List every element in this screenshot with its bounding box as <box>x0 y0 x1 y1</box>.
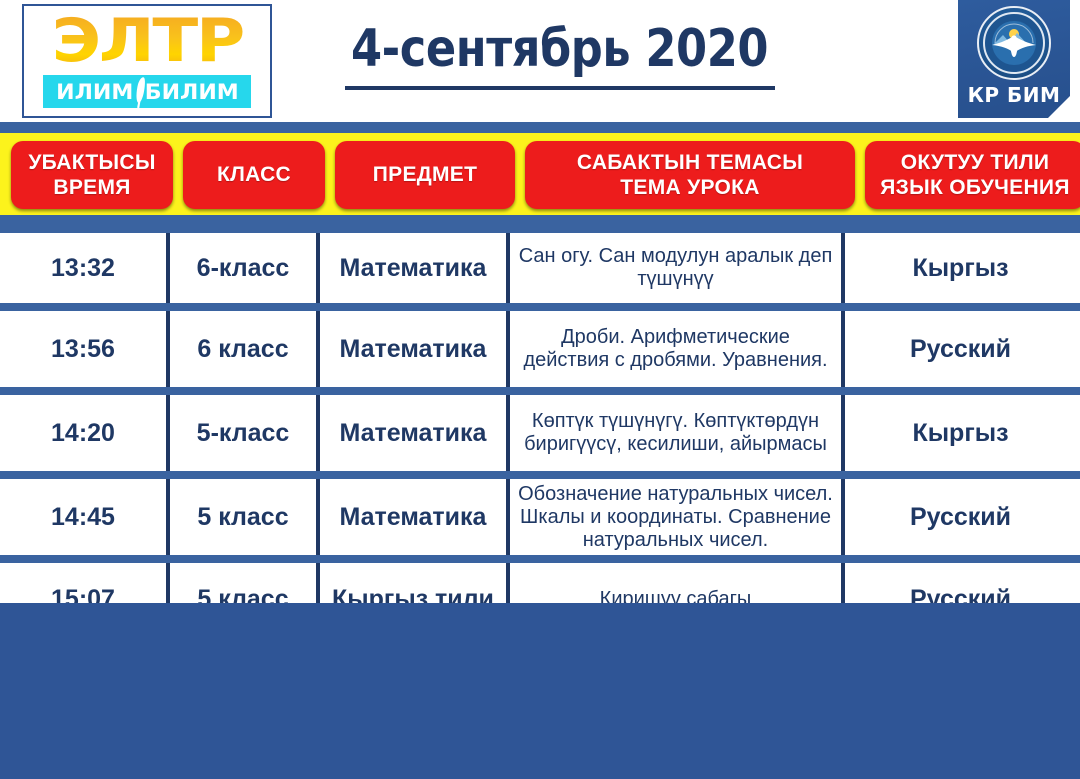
cell-time: 14:45 <box>0 479 170 555</box>
column-header-time-kyrgyz: УБАКТЫСЫ <box>28 150 155 175</box>
column-header-time: УБАКТЫСЫ ВРЕМЯ <box>11 141 173 209</box>
page-title-text: 4-сентябрь 2020 <box>351 14 768 84</box>
cell-subject: Математика <box>320 311 510 387</box>
cell-subject-value: Математика <box>340 254 487 282</box>
cell-language: Кыргыз <box>845 395 1076 471</box>
cell-topic-value: Сан огу. Сан модулун аралык деп түшүнүү <box>516 245 835 291</box>
divider-strip-bottom <box>0 215 1080 233</box>
cell-time-value: 14:45 <box>51 503 115 531</box>
cell-subject: Математика <box>320 479 510 555</box>
cell-class: 5 класс <box>170 479 320 555</box>
cell-language-value: Кыргыз <box>912 254 1008 282</box>
cell-time-value: 13:56 <box>51 335 115 363</box>
column-header-class-label: КЛАСС <box>217 162 291 187</box>
cell-time: 13:32 <box>0 233 170 303</box>
column-header-topic-kyrgyz: САБАКТЫН ТЕМАСЫ <box>577 150 803 175</box>
feather-icon <box>133 77 145 107</box>
cell-language: Русский <box>845 311 1076 387</box>
page-title-underline <box>345 86 775 90</box>
cell-class-value: 5 класс <box>197 503 288 531</box>
cell-class-value: 5-класс <box>197 419 290 447</box>
kyrgyz-state-emblem-icon <box>977 6 1051 80</box>
cell-class-value: 6 класс <box>197 335 288 363</box>
table-header-band: УБАКТЫСЫ ВРЕМЯ КЛАСС ПРЕДМЕТ САБАКТЫН ТЕ… <box>0 133 1080 216</box>
cell-class-value: 6-класс <box>197 254 290 282</box>
cell-subject: Математика <box>320 233 510 303</box>
column-header-language-kyrgyz: ОКУТУУ ТИЛИ <box>901 150 1050 175</box>
column-header-subject: ПРЕДМЕТ <box>335 141 515 209</box>
cell-topic-value: Обозначение натуральных чисел. Шкалы и к… <box>516 483 835 552</box>
schedule-table: 13:32 6-класс Математика Сан огу. Сан мо… <box>0 233 1080 635</box>
cell-subject-value: Математика <box>340 419 487 447</box>
eltr-tagline-russian: БИЛИМ <box>144 80 238 104</box>
page-title: 4-сентябрь 2020 <box>300 14 820 90</box>
table-row: 14:20 5-класс Математика Көптүк түшүнүгү… <box>0 395 1080 479</box>
cell-language: Русский <box>845 479 1076 555</box>
top-header-bar: ЭЛТР ИЛИМ БИЛИМ 4-сентябрь 2020 КР БИМ <box>0 0 1080 122</box>
table-row: 14:45 5 класс Математика Обозначение нат… <box>0 479 1080 563</box>
column-header-topic-russian: ТЕМА УРОКА <box>620 175 759 200</box>
cell-language: Кыргыз <box>845 233 1076 303</box>
cell-topic: Көптүк түшүнүгү. Көптүктөрдүн биригүүсү,… <box>510 395 845 471</box>
eltr-wordmark: ЭЛТР <box>51 8 242 74</box>
ministry-logo: КР БИМ <box>958 0 1070 118</box>
cell-class: 6-класс <box>170 233 320 303</box>
eltr-tagline-band: ИЛИМ БИЛИМ <box>43 75 251 108</box>
table-row: 13:56 6 класс Математика Дроби. Арифмети… <box>0 311 1080 395</box>
cell-time-value: 13:32 <box>51 254 115 282</box>
column-header-language: ОКУТУУ ТИЛИ ЯЗЫК ОБУЧЕНИЯ <box>865 141 1080 209</box>
cell-topic: Дроби. Арифметические действия с дробями… <box>510 311 845 387</box>
cell-language-value: Кыргыз <box>912 419 1008 447</box>
cell-topic-value: Көптүк түшүнүгү. Көптүктөрдүн биригүүсү,… <box>516 410 835 456</box>
cell-topic-value: Дроби. Арифметические действия с дробями… <box>516 326 835 372</box>
cell-class: 5-класс <box>170 395 320 471</box>
table-row: 13:32 6-класс Математика Сан огу. Сан мо… <box>0 233 1080 311</box>
eltr-tagline-kyrgyz: ИЛИМ <box>56 80 133 104</box>
column-header-topic: САБАКТЫН ТЕМАСЫ ТЕМА УРОКА <box>525 141 855 209</box>
eltr-logo: ЭЛТР ИЛИМ БИЛИМ <box>22 4 272 118</box>
cell-topic: Сан огу. Сан модулун аралык деп түшүнүү <box>510 233 845 303</box>
cell-subject-value: Математика <box>340 335 487 363</box>
cell-time-value: 14:20 <box>51 419 115 447</box>
cell-time: 14:20 <box>0 395 170 471</box>
column-header-class: КЛАСС <box>183 141 325 209</box>
cell-language-value: Русский <box>910 503 1011 531</box>
column-header-language-russian: ЯЗЫК ОБУЧЕНИЯ <box>880 175 1069 200</box>
cell-subject-value: Математика <box>340 503 487 531</box>
cell-topic: Обозначение натуральных чисел. Шкалы и к… <box>510 479 845 555</box>
cell-subject: Математика <box>320 395 510 471</box>
background-filler <box>0 603 1080 779</box>
page-fold-icon <box>1048 96 1070 118</box>
cell-class: 6 класс <box>170 311 320 387</box>
cell-language-value: Русский <box>910 335 1011 363</box>
cell-time: 13:56 <box>0 311 170 387</box>
column-header-subject-label: ПРЕДМЕТ <box>373 162 478 187</box>
column-header-time-russian: ВРЕМЯ <box>53 175 130 200</box>
ministry-logo-label: КР БИМ <box>968 84 1061 106</box>
